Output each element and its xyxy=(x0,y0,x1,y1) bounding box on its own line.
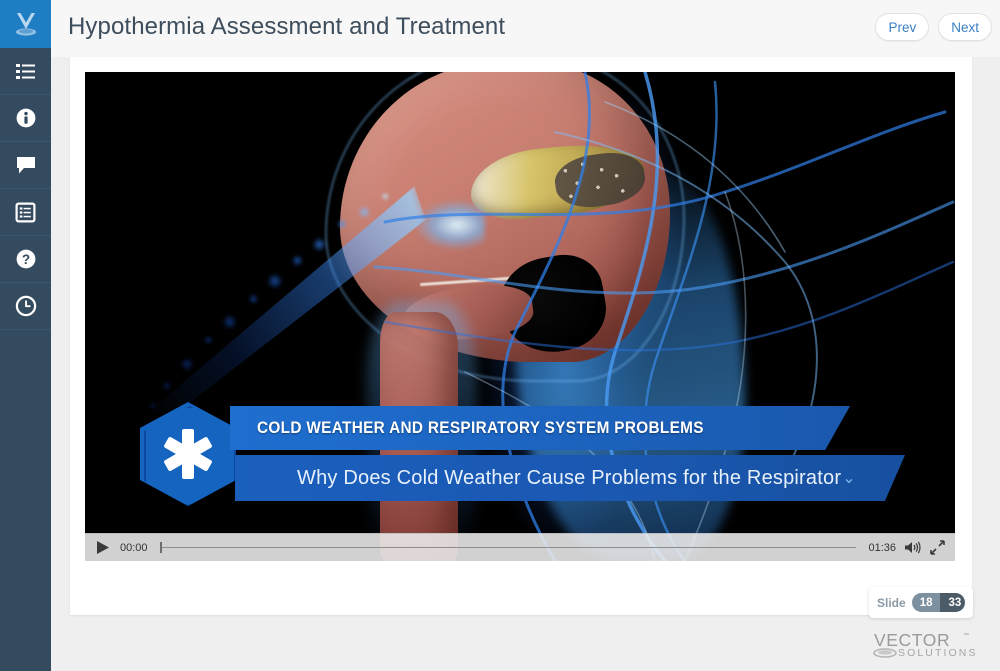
question-circle-icon: ? xyxy=(15,248,37,270)
sidebar-item-comments[interactable] xyxy=(0,142,51,189)
slide-navigation: Prev Next xyxy=(875,13,992,41)
sidebar-item-help[interactable]: ? xyxy=(0,236,51,283)
volume-up-icon xyxy=(904,540,921,555)
total-time-label: 01:36 xyxy=(864,542,896,554)
info-circle-icon xyxy=(15,107,37,129)
volume-button[interactable] xyxy=(904,539,921,556)
slide-label: Slide xyxy=(877,596,906,610)
list-icon xyxy=(15,61,36,82)
slide-counter-badge: Slide 18 33 xyxy=(869,587,973,618)
next-button[interactable]: Next xyxy=(938,13,992,41)
svg-text:?: ? xyxy=(21,252,29,267)
slide-counter-pill: 18 33 xyxy=(912,593,965,612)
page-title: Hypothermia Assessment and Treatment xyxy=(68,13,505,41)
notes-icon xyxy=(15,202,36,223)
course-player-window: ? Hypothermia Assessment and Treatment P… xyxy=(0,0,1000,671)
video-control-bar: 00:00 01:36 xyxy=(85,533,955,561)
play-button[interactable] xyxy=(94,539,112,557)
play-icon xyxy=(96,540,110,555)
sidebar-item-history[interactable] xyxy=(0,283,51,330)
vector-solutions-mark[interactable] xyxy=(0,0,51,48)
progress-track xyxy=(160,547,856,548)
chat-bubble-icon xyxy=(15,155,37,175)
svg-text:™: ™ xyxy=(963,632,969,639)
video-player[interactable]: COLD WEATHER AND RESPIRATORY SYSTEM PROB… xyxy=(85,72,955,561)
clock-icon xyxy=(15,295,37,317)
slide-total: 33 xyxy=(940,593,965,612)
progress-handle[interactable] xyxy=(160,542,162,553)
sidebar-item-info[interactable] xyxy=(0,95,51,142)
top-header: Hypothermia Assessment and Treatment Pre… xyxy=(51,0,1000,57)
slide-current: 18 xyxy=(912,593,941,612)
progress-scrubber[interactable] xyxy=(160,539,856,557)
fullscreen-button[interactable] xyxy=(929,539,946,556)
slide-panel: COLD WEATHER AND RESPIRATORY SYSTEM PROB… xyxy=(70,57,972,615)
current-time-label: 00:00 xyxy=(120,542,152,554)
vector-solutions-logo: VECTOR ™ SOLUTIONS xyxy=(871,629,981,663)
fullscreen-icon xyxy=(930,540,945,555)
left-sidebar: ? xyxy=(0,0,51,671)
vector-v-icon xyxy=(11,9,41,39)
video-canvas: COLD WEATHER AND RESPIRATORY SYSTEM PROB… xyxy=(85,72,955,561)
svg-text:SOLUTIONS: SOLUTIONS xyxy=(898,647,978,659)
vector-solutions-wordmark-icon: VECTOR ™ SOLUTIONS xyxy=(871,629,981,663)
sidebar-item-notes[interactable] xyxy=(0,189,51,236)
content-area: COLD WEATHER AND RESPIRATORY SYSTEM PROB… xyxy=(51,57,1000,671)
anatomy-flow-lines xyxy=(85,72,955,561)
prev-button[interactable]: Prev xyxy=(875,13,929,41)
sidebar-item-outline[interactable] xyxy=(0,48,51,95)
